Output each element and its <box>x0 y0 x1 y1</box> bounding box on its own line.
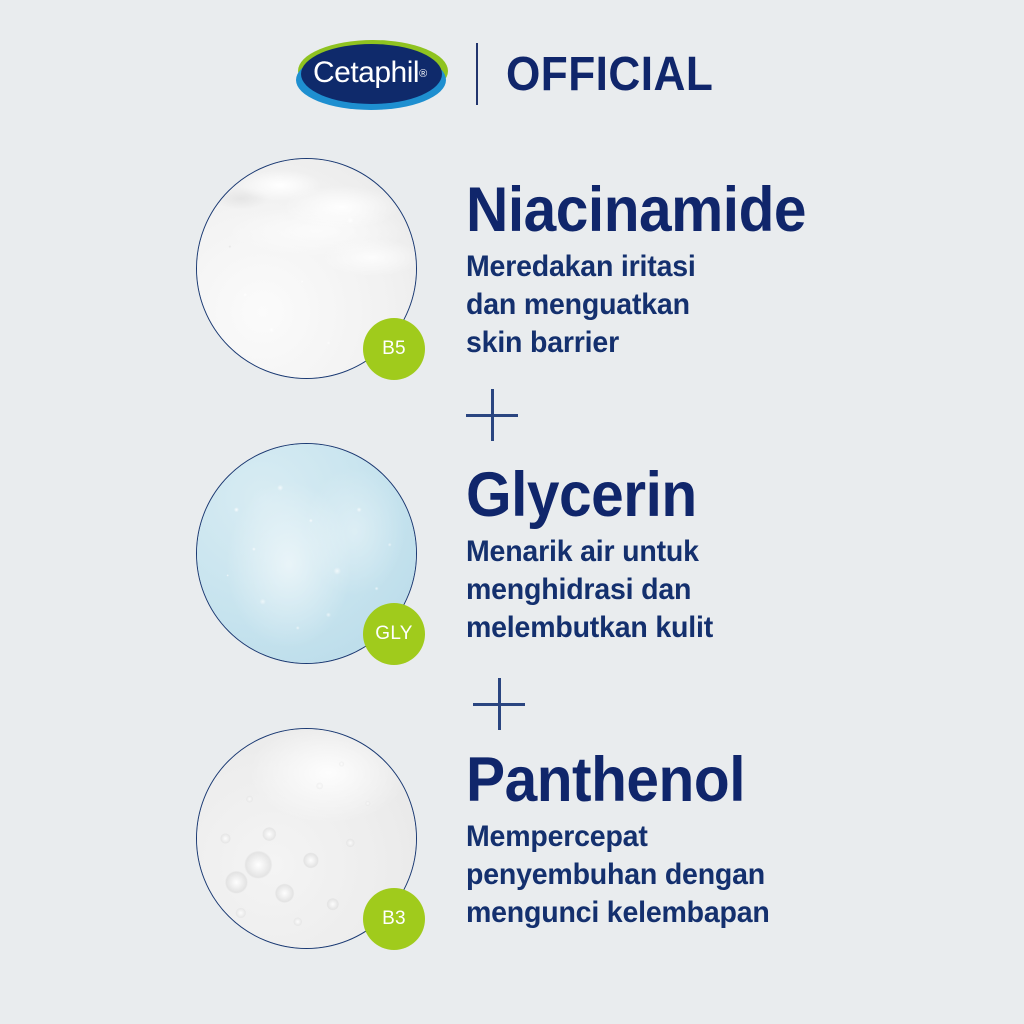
ingredient-media-niacinamide: B5 <box>196 158 436 398</box>
logo-wordmark-text: Cetaphil <box>313 56 419 89</box>
ingredient-title-panthenol: Panthenol <box>466 750 950 812</box>
plus-icon-vertical-bar <box>498 678 501 730</box>
description-line: skin barrier <box>466 324 960 362</box>
logo-navy-ellipse: Cetaphil® <box>301 44 442 104</box>
description-line: menghidrasi dan <box>466 571 960 609</box>
ingredient-media-glycerin: GLY <box>196 443 436 683</box>
cetaphil-ingredient-infographic: { "background_color": "#e9ecee", "brand_… <box>0 0 1024 1024</box>
ingredient-badge-gly: GLY <box>363 603 425 665</box>
description-line: melembutkan kulit <box>466 609 960 647</box>
plus-separator-2 <box>473 678 525 730</box>
ingredient-title-glycerin: Glycerin <box>466 465 950 527</box>
logo-wordmark: Cetaphil® <box>313 56 427 90</box>
ingredient-copy-panthenol: Panthenol Mempercepat penyembuhan dengan… <box>466 728 986 932</box>
header-divider <box>476 43 478 105</box>
ingredient-copy-niacinamide: Niacinamide Meredakan iritasi dan mengua… <box>466 158 986 362</box>
description-line: Mempercepat <box>466 818 960 856</box>
ingredient-media-panthenol: B3 <box>196 728 436 968</box>
plus-separator-1 <box>466 389 518 441</box>
description-line: mengunci kelembapan <box>466 894 960 932</box>
plus-icon-vertical-bar <box>491 389 494 441</box>
ingredient-description-glycerin: Menarik air untuk menghidrasi dan melemb… <box>466 533 960 647</box>
ingredient-row-niacinamide: B5 Niacinamide Meredakan iritasi dan men… <box>0 158 1024 398</box>
ingredient-copy-glycerin: Glycerin Menarik air untuk menghidrasi d… <box>466 443 986 647</box>
brand-header: Cetaphil® OFFICIAL <box>0 34 1024 114</box>
official-label: OFFICIAL <box>506 47 713 102</box>
ingredient-title-niacinamide: Niacinamide <box>466 180 950 242</box>
registered-trademark-icon: ® <box>419 68 427 80</box>
ingredient-row-glycerin: GLY Glycerin Menarik air untuk menghidra… <box>0 443 1024 683</box>
ingredient-row-panthenol: B3 Panthenol Mempercepat penyembuhan den… <box>0 728 1024 968</box>
ingredient-description-panthenol: Mempercepat penyembuhan dengan mengunci … <box>466 818 960 932</box>
ingredient-description-niacinamide: Meredakan iritasi dan menguatkan skin ba… <box>466 248 960 362</box>
ingredient-badge-b5: B5 <box>363 318 425 380</box>
ingredient-badge-b3: B3 <box>363 888 425 950</box>
description-line: dan menguatkan <box>466 286 960 324</box>
cetaphil-logo: Cetaphil® <box>292 38 452 110</box>
description-line: penyembuhan dengan <box>466 856 960 894</box>
description-line: Meredakan iritasi <box>466 248 960 286</box>
description-line: Menarik air untuk <box>466 533 960 571</box>
